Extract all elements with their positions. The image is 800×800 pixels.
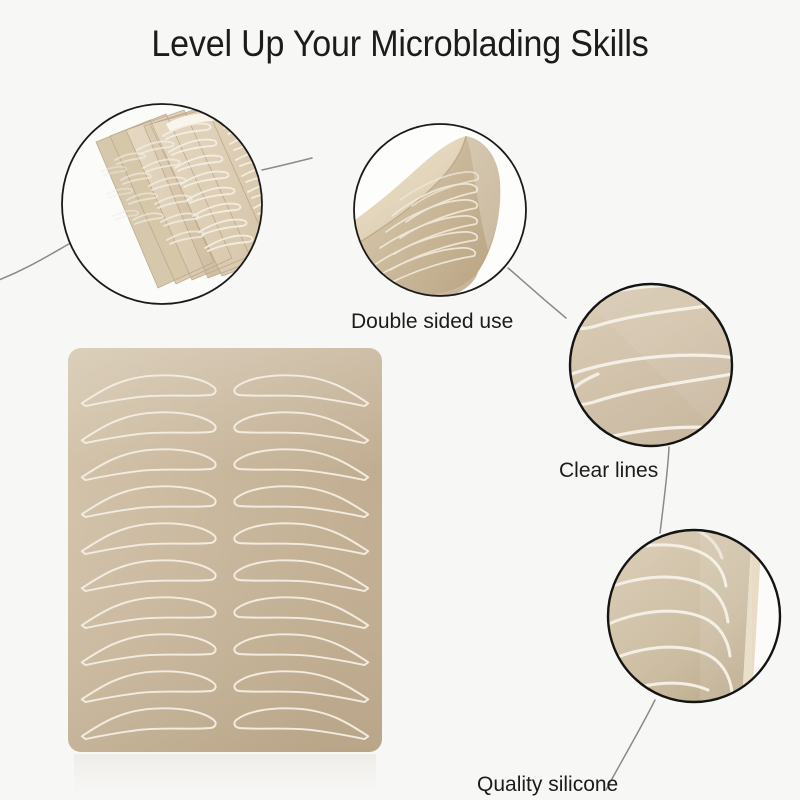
callout-quality-silicone [598,524,780,702]
main-practice-pad [68,348,386,794]
product-illustration [0,0,800,800]
caption-double-sided-use: Double sided use [351,307,513,336]
callout-stacked-sheets [62,104,314,304]
caption-quality-silicone: Quality silicone material [477,712,618,800]
pad-reflection [74,754,376,794]
callout-double-sided [352,124,526,301]
leader-line-clear-to-quality [660,447,669,533]
leader-line-double-to-clear [508,268,566,318]
caption-quality-line-1: Quality silicone [477,770,618,799]
caption-clear-lines: Clear lines [559,456,658,485]
callout-clear-lines [556,273,747,452]
leader-line-stack-left [0,240,76,282]
product-feature-poster: Level Up Your Microblading Skills [0,0,800,800]
leader-line-stack-to-double [262,158,312,170]
